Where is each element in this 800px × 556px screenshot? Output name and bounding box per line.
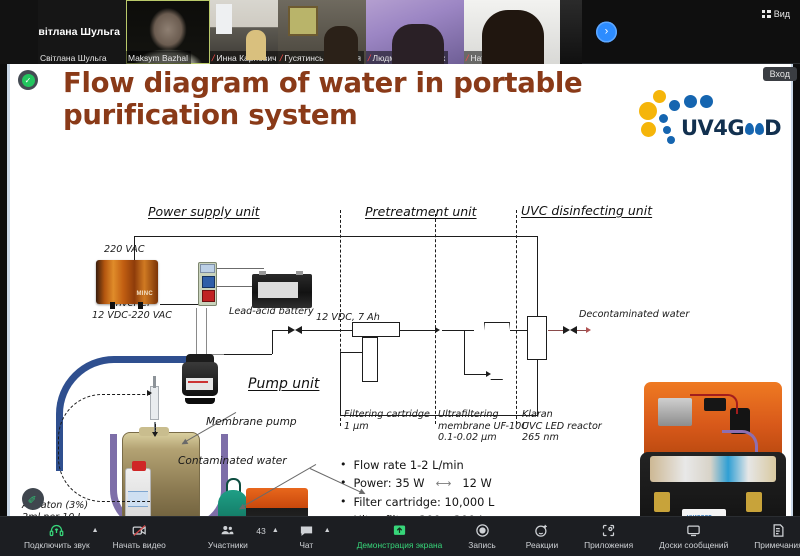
orange-toolbox-small (246, 488, 308, 516)
switch-box-photo (198, 262, 217, 306)
video-tile-name: Світлана Шульга (40, 53, 107, 63)
participant-count: 43 (256, 526, 266, 536)
inverter-terminal (110, 302, 115, 309)
outlet-valve-icon (563, 326, 577, 335)
bullet-icon: • (340, 474, 347, 492)
reactions-icon (534, 523, 549, 538)
wire-switch-battery (216, 268, 264, 269)
toolbar-label: Реакции (526, 540, 558, 550)
mic-muted-icon: / (211, 53, 216, 63)
pipe-filter-out (400, 330, 436, 331)
pipe-to-membrane (442, 330, 474, 331)
lead-acid-battery-photo (252, 274, 312, 308)
apps-icon (601, 523, 616, 538)
logo-wordmark: UV4G D (681, 116, 781, 140)
case-lid (644, 382, 782, 460)
case-wiring (690, 394, 738, 414)
security-shield-icon[interactable]: ✓ (18, 70, 38, 90)
next-page-arrow-icon[interactable]: › (596, 21, 617, 42)
pipe-valve-out (302, 330, 316, 331)
case-inverter (658, 398, 692, 426)
meeting-toolbar: Подключить звук ▲ Начать видео Участники (0, 516, 800, 556)
label-220-vac: 220 VAC (104, 244, 145, 256)
toolbar-chat[interactable]: Чат (297, 517, 316, 556)
video-tile-name: Maksym Bazhal (128, 53, 188, 63)
chat-icon (299, 523, 314, 538)
battery-terminal (296, 271, 303, 275)
toolbar-label: Доски сообщений (659, 540, 728, 550)
pipe-retentate-riser (464, 330, 465, 374)
heading-power-supply-unit: Power supply unit (148, 204, 260, 219)
toolbar-notes[interactable]: Примечания (752, 517, 800, 556)
filmstrip-spacer: › Вид (582, 0, 800, 63)
klaran-uvc-reactor (527, 316, 547, 360)
shield-check-icon: ✓ (22, 74, 35, 87)
presentation-slide: ✓ ✏ Flow diagram of water in portable pu… (7, 64, 793, 516)
toolbar-participants[interactable]: Участники 43 (206, 517, 250, 556)
label-klaran-reactor: Klaran UVC LED reactor 265 nm (522, 409, 602, 444)
share-screen-icon (392, 523, 407, 538)
flow-arrow-icon (486, 371, 491, 377)
whiteboard-icon (686, 523, 701, 538)
video-tile-maksym-bazhal[interactable]: Maksym Bazhal (126, 0, 210, 64)
view-mode-button[interactable]: Вид (758, 7, 794, 21)
uv4good-logo: UV4G D (637, 86, 777, 148)
water-drop-icon (755, 123, 764, 135)
pump-foot (185, 398, 215, 404)
mic-muted-icon: / (465, 53, 470, 63)
video-tile-inna-karpovich[interactable]: /Инна Карпович (210, 0, 278, 64)
video-tile-name: Наталія Чернова (471, 53, 538, 63)
heading-uvc-disinfecting-unit: UVC disinfecting unit (521, 203, 652, 218)
list-item: • Flow rate 1-2 L/min (340, 456, 670, 474)
video-tile[interactable] (0, 0, 38, 64)
notes-icon (771, 523, 786, 538)
list-item: • Power: 35 W ⟷ 12 W (340, 474, 670, 492)
list-item: • Filter cartridge: 10,000 L (340, 493, 670, 511)
toolbar-label: Демонстрация экрана (357, 540, 443, 550)
heading-pretreatment-unit: Pretreatment unit (365, 204, 477, 219)
toolbar-whiteboards[interactable]: Доски сообщений (657, 517, 730, 556)
bullet-text-2: 12 W (462, 474, 491, 492)
bullet-icon: • (340, 456, 347, 474)
pipe-pump-to-riser (224, 354, 272, 355)
pipe-loop-a (340, 352, 362, 353)
inverter-terminal (138, 302, 143, 309)
toolbar-label: Запись (468, 540, 495, 550)
logo-wordmark-pre: UV4G (681, 116, 744, 140)
dashed-dose-path (58, 394, 150, 502)
video-tile-speaker-name: Світлана Шульга (38, 26, 120, 38)
dashed-arrow-down-icon (152, 432, 158, 437)
toolbox-base (246, 508, 308, 516)
pipe-membrane-retentate (464, 374, 488, 375)
label-membrane-pump: Membrane pump (206, 416, 297, 429)
battery-label (258, 282, 298, 298)
mic-muted-icon: / (279, 53, 284, 63)
label-filtering-cartridge: Filtering cartridge 1 μm (344, 409, 430, 432)
video-tile-husiatynska-natalia[interactable]: /ГусятинськаНаталя (278, 0, 366, 64)
label-decontaminated-water: Decontaminated water (579, 309, 689, 321)
case-brand-plate (682, 509, 726, 516)
pump-label (186, 378, 213, 390)
wire-switch-pump (196, 308, 197, 354)
section-divider (516, 210, 517, 424)
video-tile-name: Людмила Мельчик (373, 53, 446, 63)
filter-cartridge-body (362, 337, 378, 382)
double-arrow-icon: ⟷ (436, 474, 452, 492)
wire-ac-top (134, 236, 538, 237)
green-sprayer (218, 478, 248, 516)
bullet-text: Filter cartridge: 10,000 L (354, 493, 495, 511)
toolbar-apps[interactable]: Приложения (582, 517, 635, 556)
video-tile-partial[interactable] (560, 0, 582, 64)
slide-title-line-2: purification system (63, 100, 663, 132)
entry-chip[interactable]: Вход (763, 67, 797, 81)
pipe-pump-riser (272, 330, 273, 354)
video-tile-liudmyla-melchyk[interactable]: /Людмила Мельчик (366, 0, 464, 64)
video-tile-svitlana-shulha[interactable]: Світлана Шульга Світлана Шульга (38, 0, 126, 64)
chat-options-caret-icon[interactable]: ▲ (324, 527, 331, 534)
flow-arrow-icon (435, 327, 440, 333)
toolbar-label: Чат (299, 540, 313, 550)
switch-box-display (200, 264, 215, 273)
heading-pump-unit: Pump unit (248, 376, 319, 392)
switch-off (202, 290, 215, 302)
video-off-icon (132, 523, 147, 538)
dashed-arrow-icon (147, 390, 152, 396)
label-contaminated-water: Contaminated water (178, 455, 287, 468)
participants-options-caret-icon[interactable]: ▲ (272, 527, 279, 534)
toolbar-label: Начать видео (113, 540, 166, 550)
video-tile-name: ГусятинськаНаталя (285, 53, 361, 63)
pipe-pump-out (272, 330, 289, 331)
logo-wordmark-post: D (764, 116, 781, 140)
video-tile-name: Инна Карпович (217, 53, 277, 63)
switch-on (202, 276, 215, 288)
pipe-loop-down (340, 352, 341, 415)
syringe-plunger (153, 376, 156, 388)
toolbar-label: Участники (208, 540, 248, 550)
section-divider (435, 214, 436, 424)
toolbar-share-screen[interactable]: Демонстрация экрана (355, 517, 445, 556)
participant-filmstrip: Світлана Шульга Світлана Шульга Maksym B… (0, 0, 800, 64)
toolbar-record[interactable]: Запись (466, 517, 497, 556)
people-icon (220, 523, 235, 538)
filter-cartridge-top (352, 322, 400, 337)
toolbar-join-audio[interactable]: Подключить звук (22, 517, 92, 556)
bullet-icon: • (340, 493, 347, 511)
case-latch (746, 492, 762, 512)
spec-bullet-list: • Flow rate 1-2 L/min • Power: 35 W ⟷ 12… (340, 456, 670, 516)
slide-title: Flow diagram of water in portable purifi… (63, 68, 663, 132)
toolbar-start-video[interactable]: Начать видео (111, 517, 168, 556)
slide-title-line-1: Flow diagram of water in portable (63, 68, 663, 100)
record-icon (475, 523, 490, 538)
pipe-reactor-out (548, 330, 564, 331)
toolbar-reactions[interactable]: Реакции (524, 517, 560, 556)
outlet-arrow-icon (586, 327, 591, 333)
toolbar-label: Подключить звук (24, 540, 90, 550)
view-mode-label: Вид (774, 9, 790, 19)
headset-icon (49, 523, 64, 538)
water-drop-icon (745, 123, 754, 135)
pen-icon: ✏ (25, 491, 41, 507)
annotate-pen-icon[interactable]: ✏ (22, 488, 44, 510)
shared-screen-stage: Вход ✓ ✏ Flow diagram of water in portab… (0, 64, 800, 516)
bullet-text: Flow rate 1-2 L/min (354, 456, 464, 474)
grid-view-icon (762, 10, 771, 18)
wire-switch-pump-2 (206, 308, 207, 354)
inverter-photo (96, 260, 158, 304)
mic-muted-icon: / (367, 53, 372, 63)
membrane-pump-photo (180, 352, 222, 404)
battery-terminal (259, 271, 266, 275)
inlet-valve-icon (288, 326, 302, 335)
label-ultrafiltering-membrane: Ultrafiltering membrane UF-10C 0.1-0.02 … (438, 409, 528, 444)
video-tile-natalia-chernova[interactable]: /Наталія Чернова (464, 0, 560, 64)
bullet-text: Power: 35 W (354, 474, 425, 492)
sprayer-tank (218, 490, 248, 516)
pipe-loop-right (537, 360, 538, 415)
toolbar-label: Приложения (584, 540, 633, 550)
toolbar-label: Примечания (754, 540, 800, 550)
audio-options-caret-icon[interactable]: ▲ (92, 527, 99, 534)
pipe-inlet (316, 330, 352, 331)
zoom-meeting-window: Світлана Шульга Світлана Шульга Maksym B… (0, 0, 800, 556)
